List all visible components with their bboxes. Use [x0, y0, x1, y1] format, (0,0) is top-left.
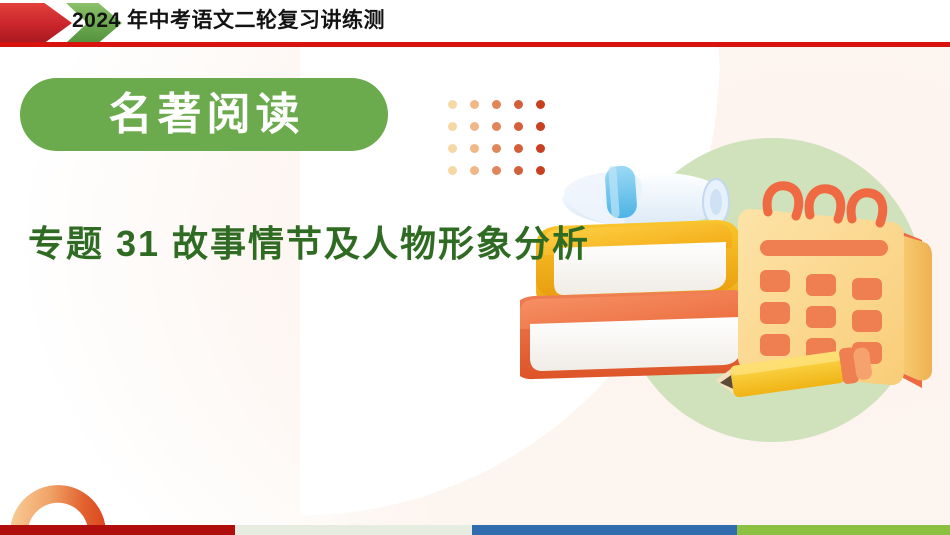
dot-grid-dot	[536, 100, 545, 109]
chevron-red-icon	[0, 3, 72, 43]
page-title: 专题 31 故事情节及人物形象分析	[28, 222, 590, 265]
dot-grid-dot	[536, 144, 545, 153]
dot-grid-dot	[514, 144, 523, 153]
footer-segment-gray	[235, 525, 472, 535]
dot-grid-dot	[492, 166, 501, 175]
slide-root: 2024 年中考语文二轮复习讲练测 名著阅读 专题 31 故事情节及人物形象分析	[0, 0, 950, 535]
dot-grid-decoration	[448, 100, 545, 175]
hero-illustration	[520, 130, 950, 460]
dot-grid-dot	[470, 122, 479, 131]
dot-grid-dot	[448, 144, 457, 153]
category-badge: 名著阅读	[20, 78, 388, 151]
header-divider-rule	[0, 42, 950, 47]
dot-grid-dot	[514, 122, 523, 131]
header-title: 2024 年中考语文二轮复习讲练测	[72, 6, 385, 36]
dot-grid-dot	[470, 100, 479, 109]
dot-grid-dot	[492, 144, 501, 153]
dot-grid-dot	[448, 100, 457, 109]
footer-segment-blue	[472, 525, 737, 535]
footer-segment-green	[737, 525, 950, 535]
dot-grid-dot	[492, 100, 501, 109]
slide-header: 2024 年中考语文二轮复习讲练测	[0, 0, 950, 46]
dot-grid-dot	[470, 144, 479, 153]
footer-color-bar	[0, 525, 950, 535]
dot-grid-dot	[536, 166, 545, 175]
dot-grid-dot	[514, 100, 523, 109]
dot-grid-dot	[470, 166, 479, 175]
footer-segment-red	[0, 525, 235, 535]
category-badge-label: 名著阅读	[104, 93, 305, 137]
orange-book-icon	[520, 290, 756, 379]
dot-grid-dot	[536, 122, 545, 131]
dot-grid-dot	[448, 122, 457, 131]
dot-grid-dot	[448, 166, 457, 175]
dot-grid-dot	[514, 166, 523, 175]
dot-grid-dot	[492, 122, 501, 131]
